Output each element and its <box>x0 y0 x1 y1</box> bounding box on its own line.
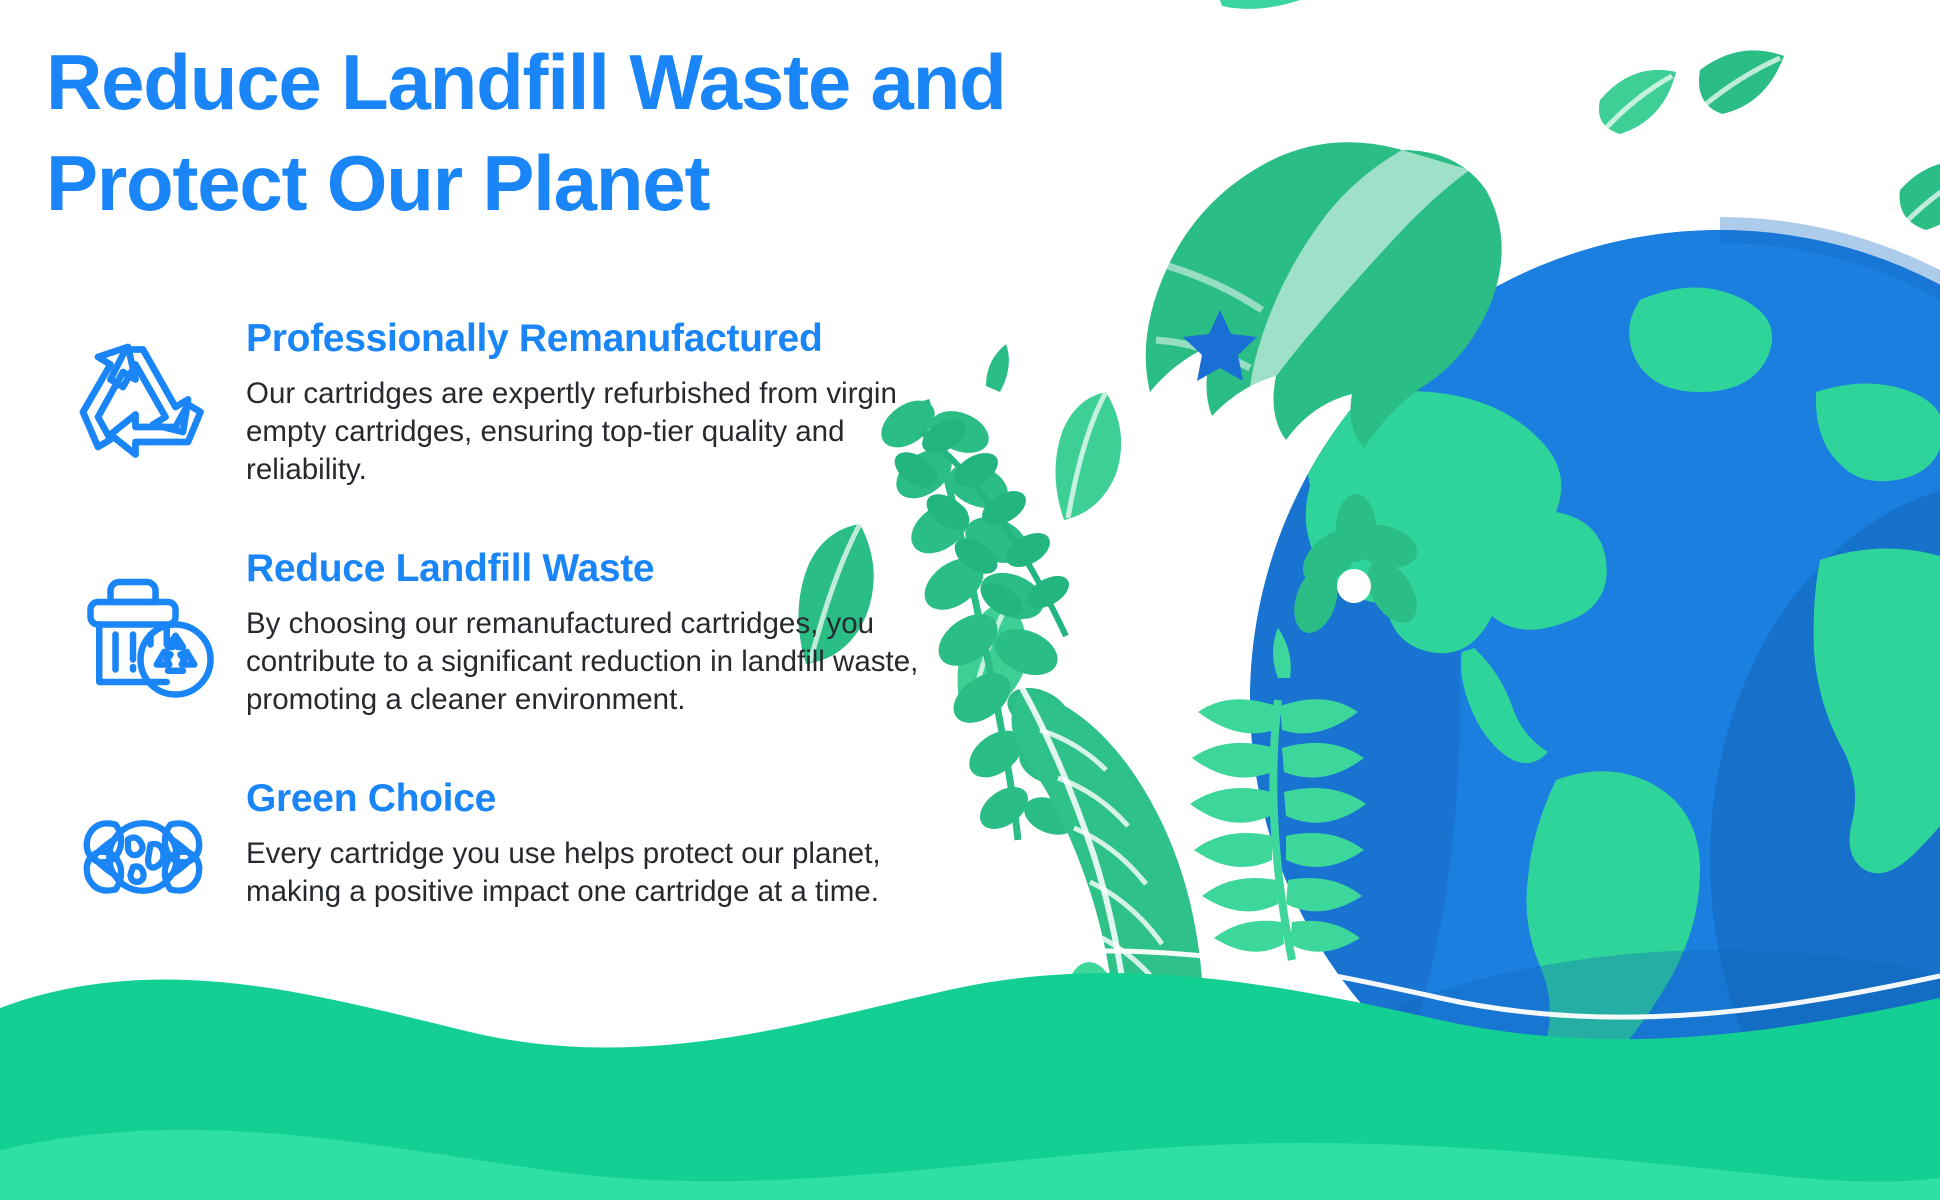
floating-leaf-b <box>1599 70 1676 134</box>
flower-bottom <box>992 960 1189 1143</box>
fern-frond <box>1190 628 1366 960</box>
landmass-central-america <box>1461 648 1548 763</box>
feature-title: Professionally Remanufactured <box>246 316 1046 363</box>
feature-list: Professionally Remanufactured Our cartri… <box>46 316 1046 984</box>
landmass-south-america <box>1527 771 1701 1090</box>
feature-body: By choosing our remanufactured cartridge… <box>246 605 936 720</box>
star-icon <box>1183 310 1257 381</box>
green-wave-ground <box>0 951 1940 1200</box>
feature-item-reduce-landfill-waste: Reduce Landfill Waste By choosing our re… <box>46 546 1046 758</box>
feature-title: Reduce Landfill Waste <box>246 546 1046 593</box>
top-accent-shape <box>1220 0 1300 9</box>
floating-leaf-d <box>1055 392 1121 520</box>
recycle-arrows-icon <box>68 322 218 472</box>
globe-leaves-icon <box>68 782 218 932</box>
landmass-north-america <box>1300 391 1607 653</box>
feature-item-green-choice: Green Choice Every cartridge you use hel… <box>46 776 1046 966</box>
floating-leaf-c <box>1900 161 1940 230</box>
flower-mid <box>1286 494 1427 639</box>
feature-item-professionally-remanufactured: Professionally Remanufactured Our cartri… <box>46 316 1046 528</box>
landmass-africa <box>1814 548 1940 873</box>
page-title: Reduce Landfill Waste and Protect Our Pl… <box>46 32 1386 235</box>
trash-bin-recycle-icon <box>68 552 218 702</box>
headline-line-2: Protect Our Planet <box>46 133 1386 234</box>
feature-body: Our cartridges are expertly refurbished … <box>246 375 936 490</box>
earth-globe <box>1140 150 1940 1200</box>
landmass-island-c <box>1703 1029 1817 1092</box>
landmass-europe <box>1816 383 1940 481</box>
feature-title: Green Choice <box>246 776 1046 823</box>
floating-leaf-a <box>1699 50 1784 114</box>
feature-body: Every cartridge you use helps protect ou… <box>246 835 936 912</box>
infographic-banner: Reduce Landfill Waste and Protect Our Pl… <box>0 0 1940 1200</box>
palm-frond <box>1296 486 1356 700</box>
landmass-greenland <box>1629 287 1772 392</box>
headline-line-1: Reduce Landfill Waste and <box>46 32 1386 133</box>
